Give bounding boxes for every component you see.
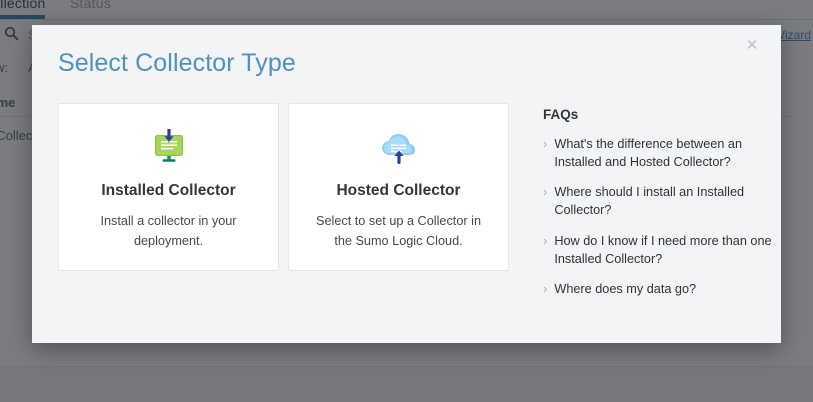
faq-item-label: Where should I install an Installed Coll… xyxy=(554,183,781,219)
faq-item[interactable]: › How do I know if I need more than one … xyxy=(543,232,781,268)
installed-collector-monitor-icon xyxy=(147,128,191,172)
select-collector-type-dialog: × Select Collector Type xyxy=(32,25,781,343)
dialog-body: Installed Collector Install a collector … xyxy=(32,103,781,343)
chevron-right-icon: › xyxy=(543,280,547,298)
chevron-right-icon: › xyxy=(543,135,547,171)
card-description: Select to set up a Collector in the Sumo… xyxy=(310,212,488,251)
faq-item-label: How do I know if I need more than one In… xyxy=(554,232,781,268)
card-hosted-collector[interactable]: Hosted Collector Select to set up a Coll… xyxy=(288,103,509,271)
chevron-right-icon: › xyxy=(543,232,547,268)
faq-item[interactable]: › Where should I install an Installed Co… xyxy=(543,183,781,219)
faq-heading: FAQs xyxy=(543,107,781,122)
card-title: Hosted Collector xyxy=(336,182,460,200)
chevron-right-icon: › xyxy=(543,183,547,219)
card-installed-collector[interactable]: Installed Collector Install a collector … xyxy=(58,103,279,271)
card-title: Installed Collector xyxy=(101,182,235,200)
close-icon[interactable]: × xyxy=(739,33,765,59)
faq-panel: FAQs › What's the difference between an … xyxy=(543,103,781,343)
faq-item-label: What's the difference between an Install… xyxy=(554,135,781,171)
card-description: Install a collector in your deployment. xyxy=(80,212,258,251)
hosted-collector-cloud-icon xyxy=(377,128,421,172)
dialog-title: Select Collector Type xyxy=(58,49,296,78)
faq-item[interactable]: › Where does my data go? xyxy=(543,280,781,298)
faq-item[interactable]: › What's the difference between an Insta… xyxy=(543,135,781,171)
collector-type-card-list: Installed Collector Install a collector … xyxy=(32,103,509,343)
faq-item-label: Where does my data go? xyxy=(554,280,696,298)
